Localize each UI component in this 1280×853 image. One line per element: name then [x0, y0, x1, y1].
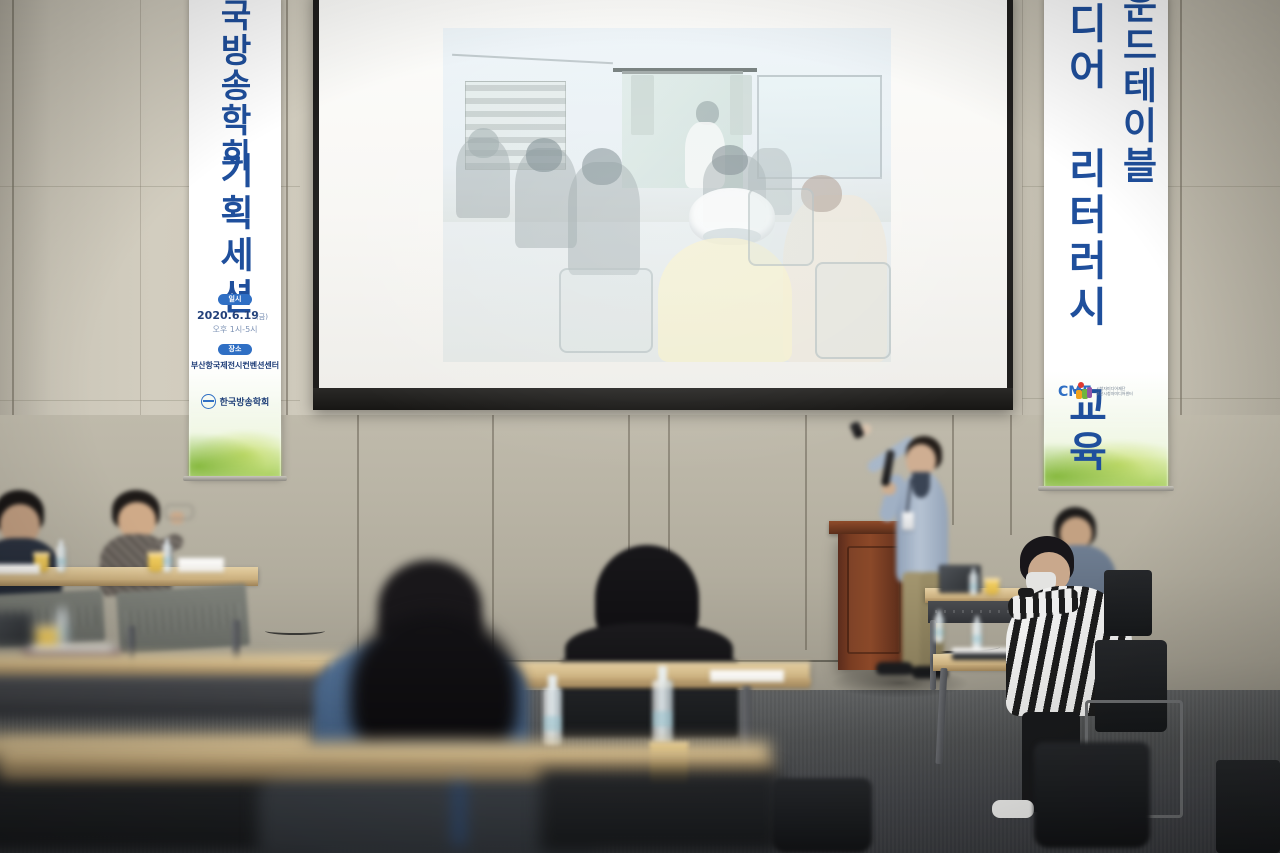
presenter-shoe-left — [876, 662, 914, 675]
attendee-shoe — [992, 800, 1034, 818]
cup-rim — [147, 552, 164, 556]
projection-screen-surface — [319, 0, 1007, 388]
chair — [1216, 760, 1280, 853]
eyeglasses — [164, 504, 194, 520]
projected-attendee-head — [712, 145, 748, 175]
water-bottle — [652, 680, 673, 744]
wristwatch — [1018, 588, 1034, 597]
logo-text-line2: 부산시청자미디어센터 — [1096, 391, 1133, 396]
wall-seam — [286, 0, 288, 420]
right-banner-top-line: 운드테이블 — [1118, 0, 1155, 186]
right-banner: 운드테이블 디어 리터러시 교육 CMF 시청자미디어재단 부산시청자미디어센터 — [1044, 0, 1168, 490]
projected-chair — [559, 268, 653, 352]
logo-dot-purple — [1087, 387, 1092, 398]
document-paper — [0, 564, 40, 574]
laptop — [0, 612, 32, 646]
chair — [1104, 570, 1152, 636]
projected-photo — [443, 28, 891, 362]
water-bottle — [56, 546, 66, 572]
left-banner-organizer: 한국방송학회 — [220, 395, 270, 408]
cmf-logo-icon: CMF — [1058, 382, 1092, 400]
right-banner-logo: CMF 시청자미디어재단 부산시청자미디어센터 — [1058, 382, 1133, 400]
wall-seam — [805, 415, 807, 650]
projected-chair — [815, 262, 891, 360]
bottle-label — [969, 584, 978, 590]
backpack — [1034, 742, 1150, 848]
chair-back — [540, 770, 780, 853]
left-banner-time-value: 오후 1시-5시 — [193, 324, 277, 335]
document-paper — [178, 558, 224, 572]
presenter-inner-collar — [912, 472, 930, 498]
right-banner-logo-text: 시청자미디어재단 부산시청자미디어센터 — [1096, 386, 1133, 396]
water-bottle — [934, 616, 944, 643]
left-banner-place-label: 장소 — [218, 344, 252, 355]
paper-cup — [148, 554, 163, 572]
water-bottle — [543, 688, 562, 746]
water-bottle — [972, 622, 982, 650]
projection-screen-bottom-bar — [313, 388, 1013, 410]
seminar-room-photograph: 국방송학회 기획세션 일시 2020.6.19 (금) 오후 1시-5시 장소 … — [0, 0, 1280, 853]
wall-seam — [1022, 0, 1023, 470]
projected-attendee-head — [526, 138, 562, 171]
cup-rim — [33, 552, 50, 556]
organizer-logo-icon — [201, 394, 216, 409]
water-bottle — [969, 573, 978, 595]
projection-screen — [313, 0, 1013, 410]
presenter-badge — [902, 512, 914, 530]
document-paper — [30, 646, 114, 654]
cup-rim — [984, 578, 1000, 582]
left-banner-rod — [183, 476, 287, 481]
left-banner-organizer-row: 한국방송학회 — [189, 394, 281, 409]
equipment-bag — [772, 778, 872, 853]
bottle-label — [972, 635, 982, 642]
left-banner-date-label: 일시 — [218, 294, 252, 305]
projected-speaker-box — [730, 75, 752, 135]
projected-speaker-box — [631, 75, 653, 135]
left-banner: 국방송학회 기획세션 일시 2020.6.19 (금) 오후 1시-5시 장소 … — [189, 0, 281, 480]
right-banner-rod — [1038, 486, 1174, 491]
wall-seam — [1010, 415, 1012, 535]
left-banner-place-value: 부산항국제전시컨벤션센터 — [187, 360, 283, 371]
cup-rim — [35, 626, 59, 630]
paper-cup — [985, 580, 999, 595]
projected-attendee-head — [582, 148, 622, 185]
water-bottle — [162, 544, 172, 572]
left-banner-main-text: 국방송학회 — [217, 0, 250, 173]
projected-chair — [748, 188, 815, 265]
bottle-label — [162, 557, 172, 564]
laptop-screen — [0, 614, 30, 644]
banner-grass-graphic — [189, 400, 281, 478]
logo-dot-red — [1078, 382, 1084, 388]
bottle-label — [652, 711, 673, 728]
projected-attendee-head — [468, 128, 499, 158]
bottle-label — [56, 558, 66, 565]
document-paper — [710, 670, 784, 682]
bottle-label — [543, 716, 562, 731]
right-banner-main-line: 디어 리터러시 교육 — [1060, 2, 1108, 476]
left-rear-table-items — [0, 530, 270, 580]
bottle-label — [934, 629, 944, 636]
left-banner-date-day: (금) — [251, 312, 273, 322]
